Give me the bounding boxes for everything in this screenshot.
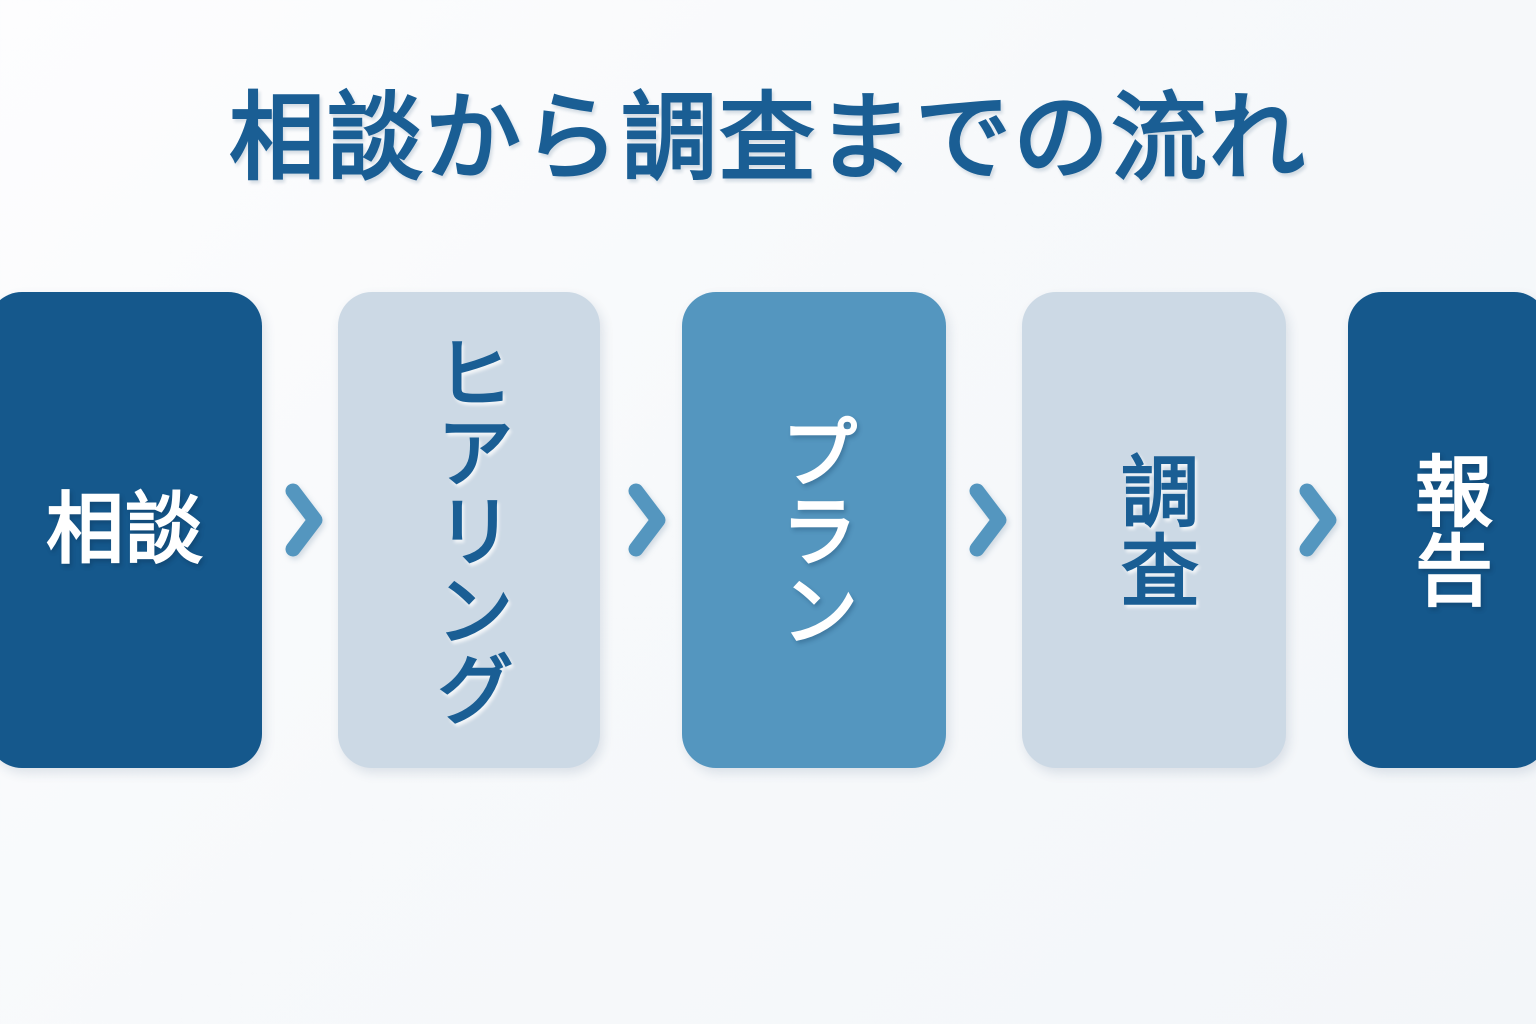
- flow-step-label-4: 調査: [1108, 451, 1200, 609]
- flow-step-card-2[interactable]: ヒアリング: [338, 292, 600, 768]
- flow-step-card-1[interactable]: 相談: [0, 292, 262, 768]
- flow-step-card-3[interactable]: プラン: [682, 292, 946, 768]
- flow-step-card-5[interactable]: 報告: [1348, 292, 1536, 768]
- infographic-canvas: 相談から調査までの流れ 相談 ヒアリング プラン: [0, 0, 1536, 1024]
- chevron-right-icon: [966, 480, 1012, 560]
- chevron-right-icon: [1296, 480, 1342, 560]
- chevron-right-icon: [282, 480, 328, 560]
- process-flow-row: 相談 ヒアリング プラン 調査: [0, 292, 1536, 772]
- flow-step-card-4[interactable]: 調査: [1022, 292, 1286, 768]
- flow-step-label-1: 相談: [46, 489, 204, 571]
- flow-step-label-2: ヒアリング: [423, 333, 515, 728]
- chevron-right-icon: [625, 480, 671, 560]
- flow-step-label-5: 報告: [1402, 451, 1494, 609]
- flow-step-label-3: プラン: [768, 412, 860, 649]
- page-title: 相談から調査までの流れ: [0, 86, 1536, 192]
